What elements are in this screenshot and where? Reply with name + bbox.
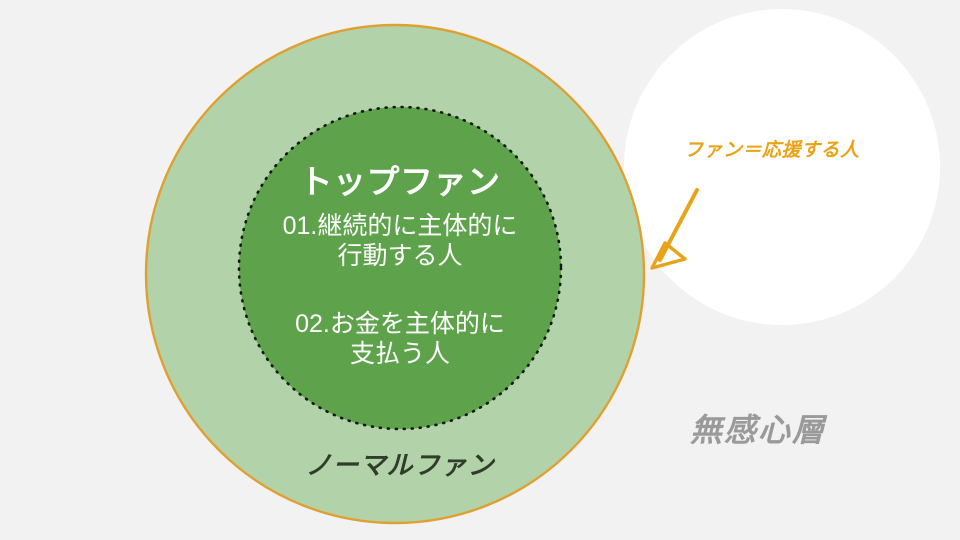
top-fan-title: トップファン	[0, 163, 800, 202]
fan-definition-label: ファン＝応援する人	[684, 140, 874, 162]
criterion-02-line2: 支払う人	[0, 340, 800, 370]
top-fan-criterion-01: 01.継続的に主体的に 行動する人	[0, 212, 800, 271]
diagram-canvas: トップファン 01.継続的に主体的に 行動する人 02.お金を主体的に 支払う人…	[0, 0, 960, 540]
normal-fan-label: ノーマルファン	[0, 450, 800, 481]
apathy-layer-label: 無感心層	[690, 412, 890, 450]
criterion-02-line1: 02.お金を主体的に	[0, 310, 800, 340]
criterion-01-line1: 01.継続的に主体的に	[0, 212, 800, 242]
top-fan-criterion-02: 02.お金を主体的に 支払う人	[0, 310, 800, 369]
criterion-01-line2: 行動する人	[0, 242, 800, 272]
